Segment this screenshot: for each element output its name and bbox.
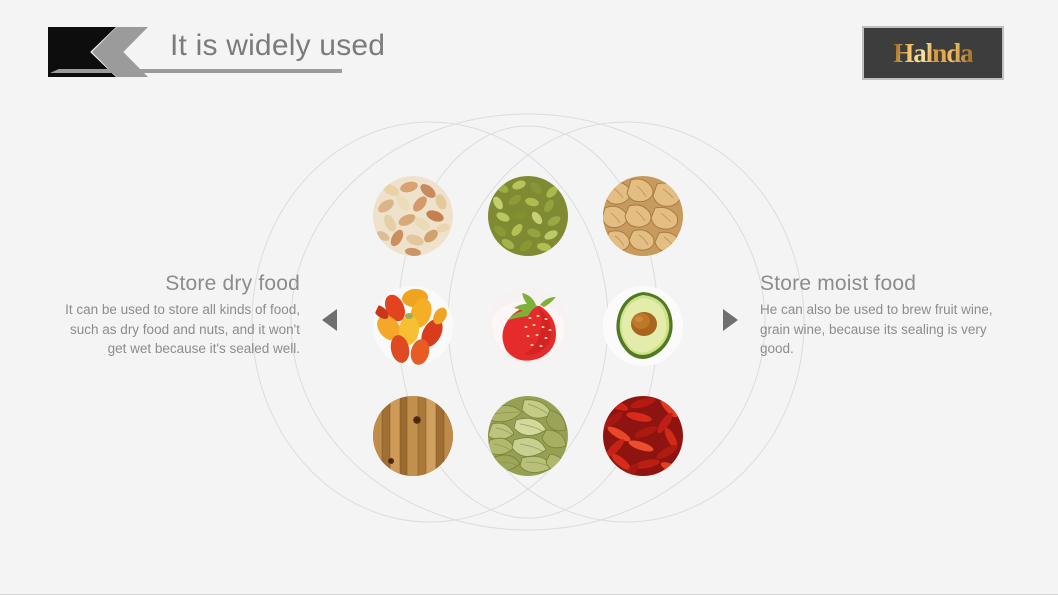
- food-item-walnuts: [603, 176, 683, 256]
- food-item-strawberry: [488, 286, 568, 366]
- right-panel-body: He can also be used to brew fruit wine, …: [760, 300, 1004, 359]
- food-item-cinnamon-star-anise: [373, 396, 453, 476]
- food-item-avocado: [603, 286, 683, 366]
- food-item-pumpkin-seeds: [488, 176, 568, 256]
- left-panel-body: It can be used to store all kinds of foo…: [64, 300, 300, 359]
- food-item-bay-leaves: [488, 396, 568, 476]
- title-underline: [50, 69, 342, 73]
- slide-canvas: It is widely used Halnda Store dry food …: [0, 0, 1058, 595]
- left-panel: Store dry food It can be used to store a…: [64, 272, 300, 359]
- right-panel: Store moist food He can also be used to …: [760, 272, 1004, 359]
- food-item-peanuts: [373, 176, 453, 256]
- right-panel-heading: Store moist food: [760, 272, 1004, 296]
- triangle-left-icon: [322, 309, 337, 331]
- food-item-dried-chilies: [603, 396, 683, 476]
- left-panel-heading: Store dry food: [64, 272, 300, 296]
- brand-logo: Halnda: [862, 26, 1004, 80]
- brand-logo-text: Halnda: [893, 38, 973, 69]
- food-grid: [373, 176, 683, 476]
- triangle-right-icon: [723, 309, 738, 331]
- page-title: It is widely used: [170, 29, 385, 63]
- food-item-cherry-tomatoes: [373, 286, 453, 366]
